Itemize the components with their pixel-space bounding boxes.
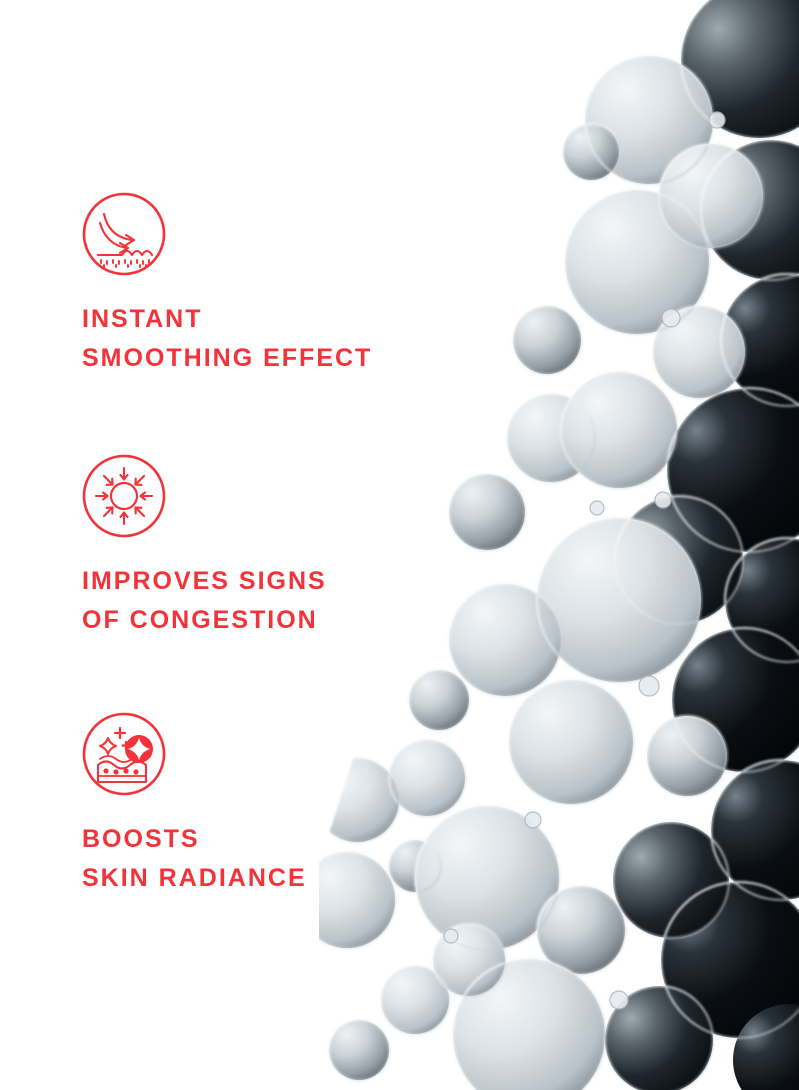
benefit-label-line2: OF CONGESTION [82, 601, 327, 640]
benefit-label-line1: INSTANT [82, 300, 372, 339]
smoothing-arrows-skin-icon [82, 192, 166, 276]
benefit-item-instant-smoothing: INSTANT SMOOTHING EFFECT [82, 192, 372, 378]
benefit-label-boosts-radiance: BOOSTS SKIN RADIANCE [82, 820, 307, 898]
benefit-item-boosts-radiance: BOOSTS SKIN RADIANCE [82, 712, 307, 898]
benefit-label-line1: IMPROVES SIGNS [82, 562, 327, 601]
benefit-item-improves-congestion: IMPROVES SIGNS OF CONGESTION [82, 454, 327, 640]
benefit-label-line2: SKIN RADIANCE [82, 859, 307, 898]
benefit-label-improves-congestion: IMPROVES SIGNS OF CONGESTION [82, 562, 327, 640]
benefit-label-line2: SMOOTHING EFFECT [82, 339, 372, 378]
benefit-label-line1: BOOSTS [82, 820, 307, 859]
inward-arrows-pore-icon [82, 454, 166, 538]
benefits-page: INSTANT SMOOTHING EFFECT [0, 0, 799, 1090]
benefits-list: INSTANT SMOOTHING EFFECT [0, 0, 470, 1090]
benefit-label-instant-smoothing: INSTANT SMOOTHING EFFECT [82, 300, 372, 378]
sparkle-skin-radiance-icon [82, 712, 166, 796]
